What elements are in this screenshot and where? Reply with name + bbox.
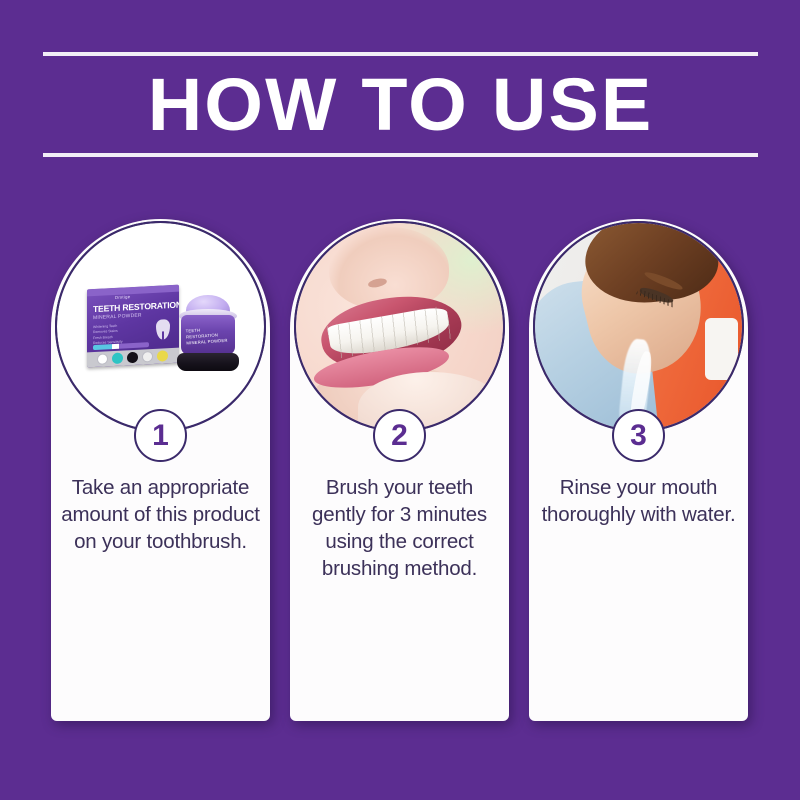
page-header: HOW TO USE bbox=[43, 52, 758, 157]
step-1-image: Drstige TEETH RESTORATION MINERAL POWDER… bbox=[55, 221, 266, 432]
step-number-badge-2: 2 bbox=[373, 409, 426, 462]
step-number-badge-3: 3 bbox=[612, 409, 665, 462]
product-jar-icon: TEETH RESTORATION MINERAL POWDER bbox=[177, 295, 239, 371]
photo2-base bbox=[296, 223, 503, 430]
feature-icon-3 bbox=[127, 352, 138, 364]
step-caption-1: Take an appropriate amount of this produ… bbox=[59, 474, 262, 555]
feature-icon-5 bbox=[157, 350, 168, 362]
step-card-3-body: 3 Rinse your mouth thoroughly with water… bbox=[529, 219, 748, 721]
jar-label: TEETH RESTORATION MINERAL POWDER bbox=[185, 325, 230, 346]
tooth-icon bbox=[156, 319, 170, 340]
step-card-1-body: Drstige TEETH RESTORATION MINERAL POWDER… bbox=[51, 219, 270, 721]
product-photo: Drstige TEETH RESTORATION MINERAL POWDER… bbox=[57, 223, 264, 430]
step-card-2-body: 2 Brush your teeth gently for 3 minutes … bbox=[290, 219, 509, 721]
step-number-badge-1: 1 bbox=[134, 409, 187, 462]
jar-base bbox=[177, 353, 239, 371]
step-caption-3: Rinse your mouth thoroughly with water. bbox=[537, 474, 740, 528]
photo3-base bbox=[535, 223, 742, 430]
step-2-image bbox=[294, 221, 505, 432]
jar-body: TEETH RESTORATION MINERAL POWDER bbox=[181, 315, 235, 355]
page-title: HOW TO USE bbox=[36, 58, 765, 151]
header-rule-top bbox=[43, 52, 758, 56]
feature-icon-2 bbox=[112, 353, 123, 365]
header-rule-bottom bbox=[43, 153, 758, 157]
step-card-2[interactable]: 2 Brush your teeth gently for 3 minutes … bbox=[290, 219, 509, 721]
step-caption-2: Brush your teeth gently for 3 minutes us… bbox=[298, 474, 501, 582]
step-3-image bbox=[533, 221, 744, 432]
product-subtitle-label: MINERAL POWDER bbox=[93, 313, 142, 322]
woman-rinsing-mouth-photo bbox=[535, 223, 742, 430]
step-card-1[interactable]: Drstige TEETH RESTORATION MINERAL POWDER… bbox=[51, 219, 270, 721]
product-box-icon: Drstige TEETH RESTORATION MINERAL POWDER… bbox=[87, 285, 179, 368]
product-scene: Drstige TEETH RESTORATION MINERAL POWDER… bbox=[87, 283, 239, 375]
smiling-mouth-photo bbox=[296, 223, 503, 430]
product-brand-label: Drstige bbox=[115, 294, 130, 300]
product-box-top bbox=[87, 285, 179, 297]
step-card-3[interactable]: 3 Rinse your mouth thoroughly with water… bbox=[529, 219, 748, 721]
feature-icon-4 bbox=[142, 351, 153, 363]
feature-icon-1 bbox=[97, 353, 108, 365]
steps-container: Drstige TEETH RESTORATION MINERAL POWDER… bbox=[51, 219, 749, 721]
wall-panel bbox=[705, 318, 738, 380]
